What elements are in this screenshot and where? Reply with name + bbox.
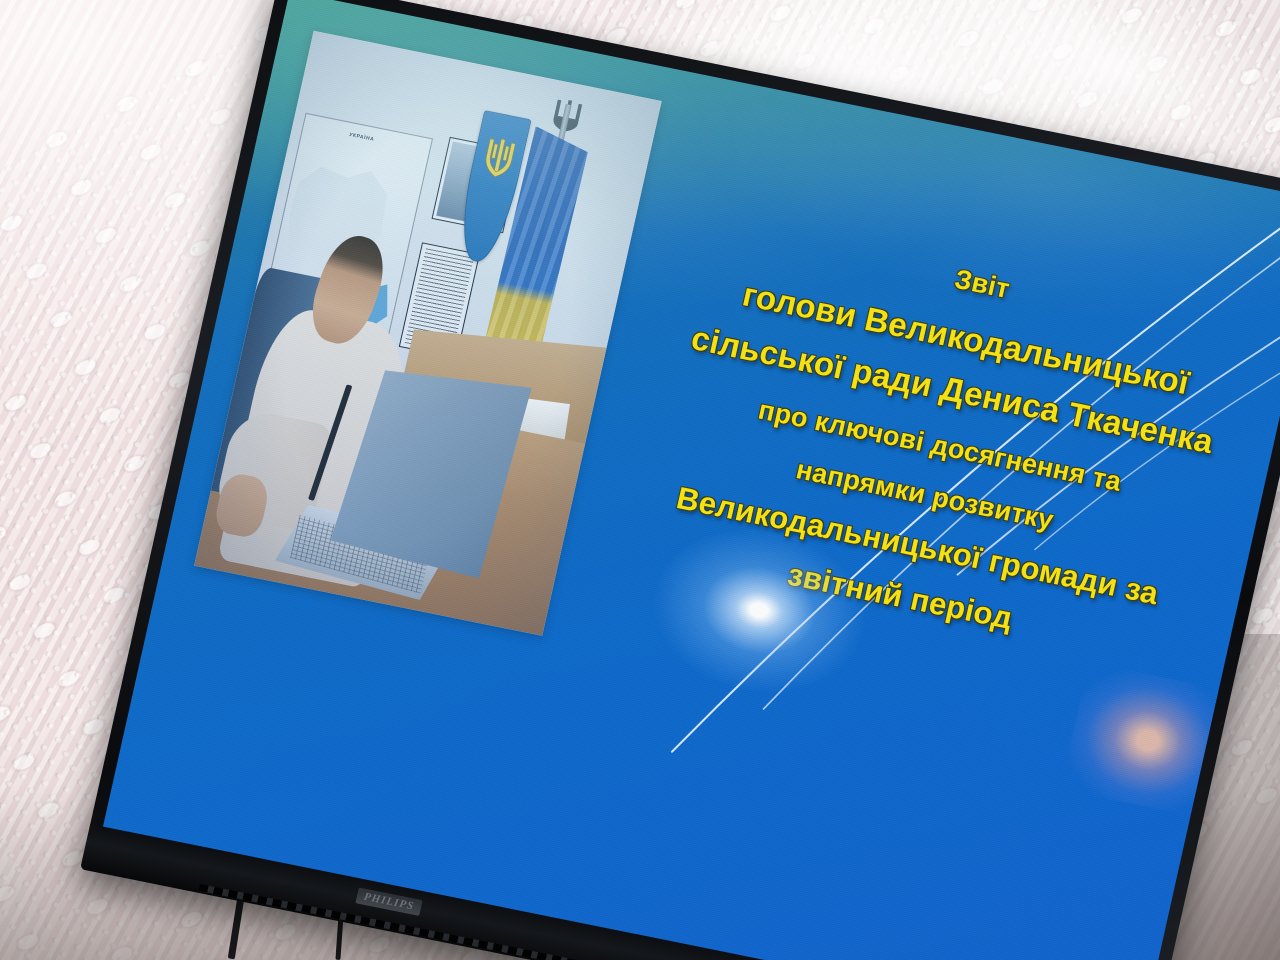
screenshot-root: УКРАЇНА (0, 0, 1280, 960)
tv-bezel: УКРАЇНА (80, 0, 1280, 960)
tv-brand-logo: PHILIPS (355, 887, 422, 915)
tv-screen: УКРАЇНА (103, 0, 1280, 960)
photo-map-label: УКРАЇНА (349, 132, 375, 143)
television: УКРАЇНА (80, 0, 1280, 960)
trident-icon (480, 133, 518, 181)
